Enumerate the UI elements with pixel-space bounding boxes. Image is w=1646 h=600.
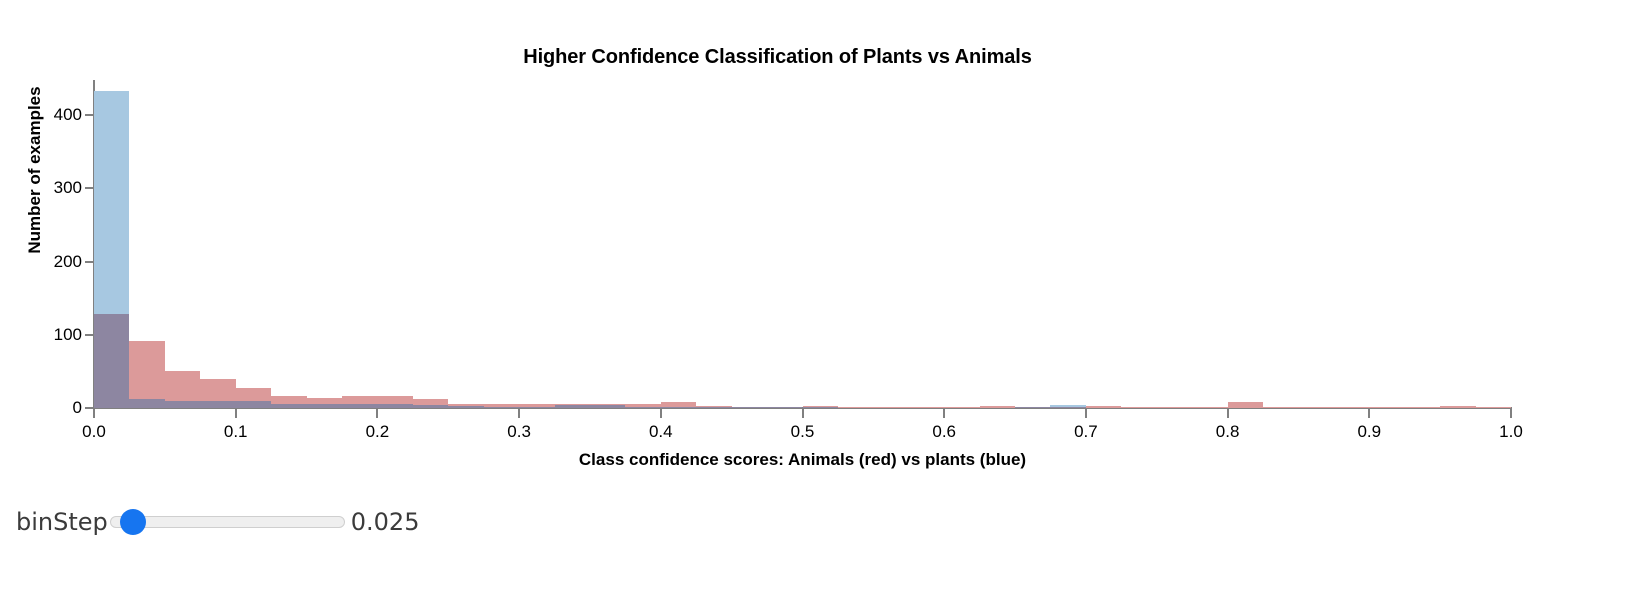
- x-tick-label: 0.8: [1198, 422, 1258, 442]
- bar-overlap: [625, 407, 660, 408]
- x-tick-label: 0.6: [914, 422, 974, 442]
- bar-overlap: [803, 407, 838, 408]
- y-tick-label: 300: [54, 179, 82, 196]
- bin-step-label: binStep: [16, 508, 108, 536]
- bar-animals: [1476, 407, 1511, 408]
- bar-animals: [1440, 406, 1475, 408]
- bar-overlap: [165, 401, 200, 408]
- y-tick-label: 200: [54, 253, 82, 270]
- histogram-bars: [94, 86, 1511, 408]
- bar-overlap: [732, 407, 767, 408]
- chart-title: Higher Confidence Classification of Plan…: [0, 46, 1555, 69]
- y-tick-label: 100: [54, 326, 82, 343]
- x-tick-mark: [1085, 409, 1087, 418]
- bin-step-slider[interactable]: [110, 509, 345, 535]
- bar-overlap: [129, 399, 164, 408]
- x-tick-label: 0.0: [64, 422, 124, 442]
- x-tick-label: 0.3: [489, 422, 549, 442]
- x-tick-mark: [376, 409, 378, 418]
- x-tick-mark: [660, 409, 662, 418]
- y-tick-mark: [85, 261, 94, 263]
- x-tick-label: 0.2: [347, 422, 407, 442]
- bar-overlap: [342, 404, 377, 408]
- x-tick-mark: [802, 409, 804, 418]
- bar-overlap: [448, 406, 483, 408]
- x-tick-label: 0.1: [206, 422, 266, 442]
- x-tick-mark: [235, 409, 237, 418]
- bar-animals: [1405, 407, 1440, 408]
- bar-overlap: [236, 401, 271, 408]
- bar-overlap: [94, 314, 129, 408]
- y-axis-title: Number of examples: [25, 20, 45, 320]
- bar-animals: [838, 407, 873, 408]
- plot-area: [94, 86, 1511, 408]
- bar-animals: [1334, 407, 1369, 408]
- bar-overlap: [519, 407, 554, 408]
- bar-animals: [944, 407, 979, 408]
- bar-overlap: [484, 407, 519, 408]
- bar-overlap: [1050, 407, 1085, 408]
- bar-overlap: [696, 407, 731, 408]
- bar-animals: [1369, 407, 1404, 408]
- bar-overlap: [307, 404, 342, 408]
- y-tick-mark: [85, 114, 94, 116]
- bar-overlap: [590, 405, 625, 408]
- bar-animals: [129, 341, 164, 408]
- x-tick-label: 0.7: [1056, 422, 1116, 442]
- bar-overlap: [200, 401, 235, 408]
- y-tick-mark: [85, 187, 94, 189]
- bin-step-slider-widget: binStep 0.025: [0, 492, 1646, 552]
- bar-animals: [873, 407, 908, 408]
- bar-overlap: [555, 405, 590, 408]
- bar-overlap: [271, 404, 306, 408]
- x-tick-mark: [518, 409, 520, 418]
- x-tick-label: 1.0: [1481, 422, 1541, 442]
- bar-animals: [1086, 406, 1121, 408]
- x-tick-label: 0.5: [773, 422, 833, 442]
- bar-overlap: [1015, 407, 1050, 408]
- bar-animals: [1263, 407, 1298, 408]
- x-tick-label: 0.9: [1339, 422, 1399, 442]
- bin-step-value: 0.025: [351, 508, 420, 536]
- bar-animals: [1157, 407, 1192, 408]
- bar-animals: [1192, 407, 1227, 408]
- bar-animals: [980, 406, 1015, 408]
- bar-overlap: [661, 407, 696, 408]
- y-tick-label: 400: [54, 106, 82, 123]
- bar-animals: [1121, 407, 1156, 408]
- bar-overlap: [767, 407, 802, 408]
- x-tick-mark: [93, 409, 95, 418]
- x-tick-mark: [1368, 409, 1370, 418]
- histogram-figure: Higher Confidence Classification of Plan…: [0, 0, 1646, 485]
- x-tick-mark: [943, 409, 945, 418]
- x-tick-mark: [1227, 409, 1229, 418]
- bar-animals: [1298, 407, 1333, 408]
- bar-animals: [1228, 402, 1263, 408]
- x-tick-mark: [1510, 409, 1512, 418]
- y-tick-label: 0: [73, 399, 82, 416]
- bar-animals: [909, 407, 944, 408]
- x-tick-label: 0.4: [631, 422, 691, 442]
- y-tick-mark: [85, 334, 94, 336]
- bar-overlap: [377, 404, 412, 408]
- slider-thumb[interactable]: [120, 509, 146, 535]
- x-axis-title: Class confidence scores: Animals (red) v…: [94, 450, 1511, 470]
- bar-overlap: [413, 405, 448, 408]
